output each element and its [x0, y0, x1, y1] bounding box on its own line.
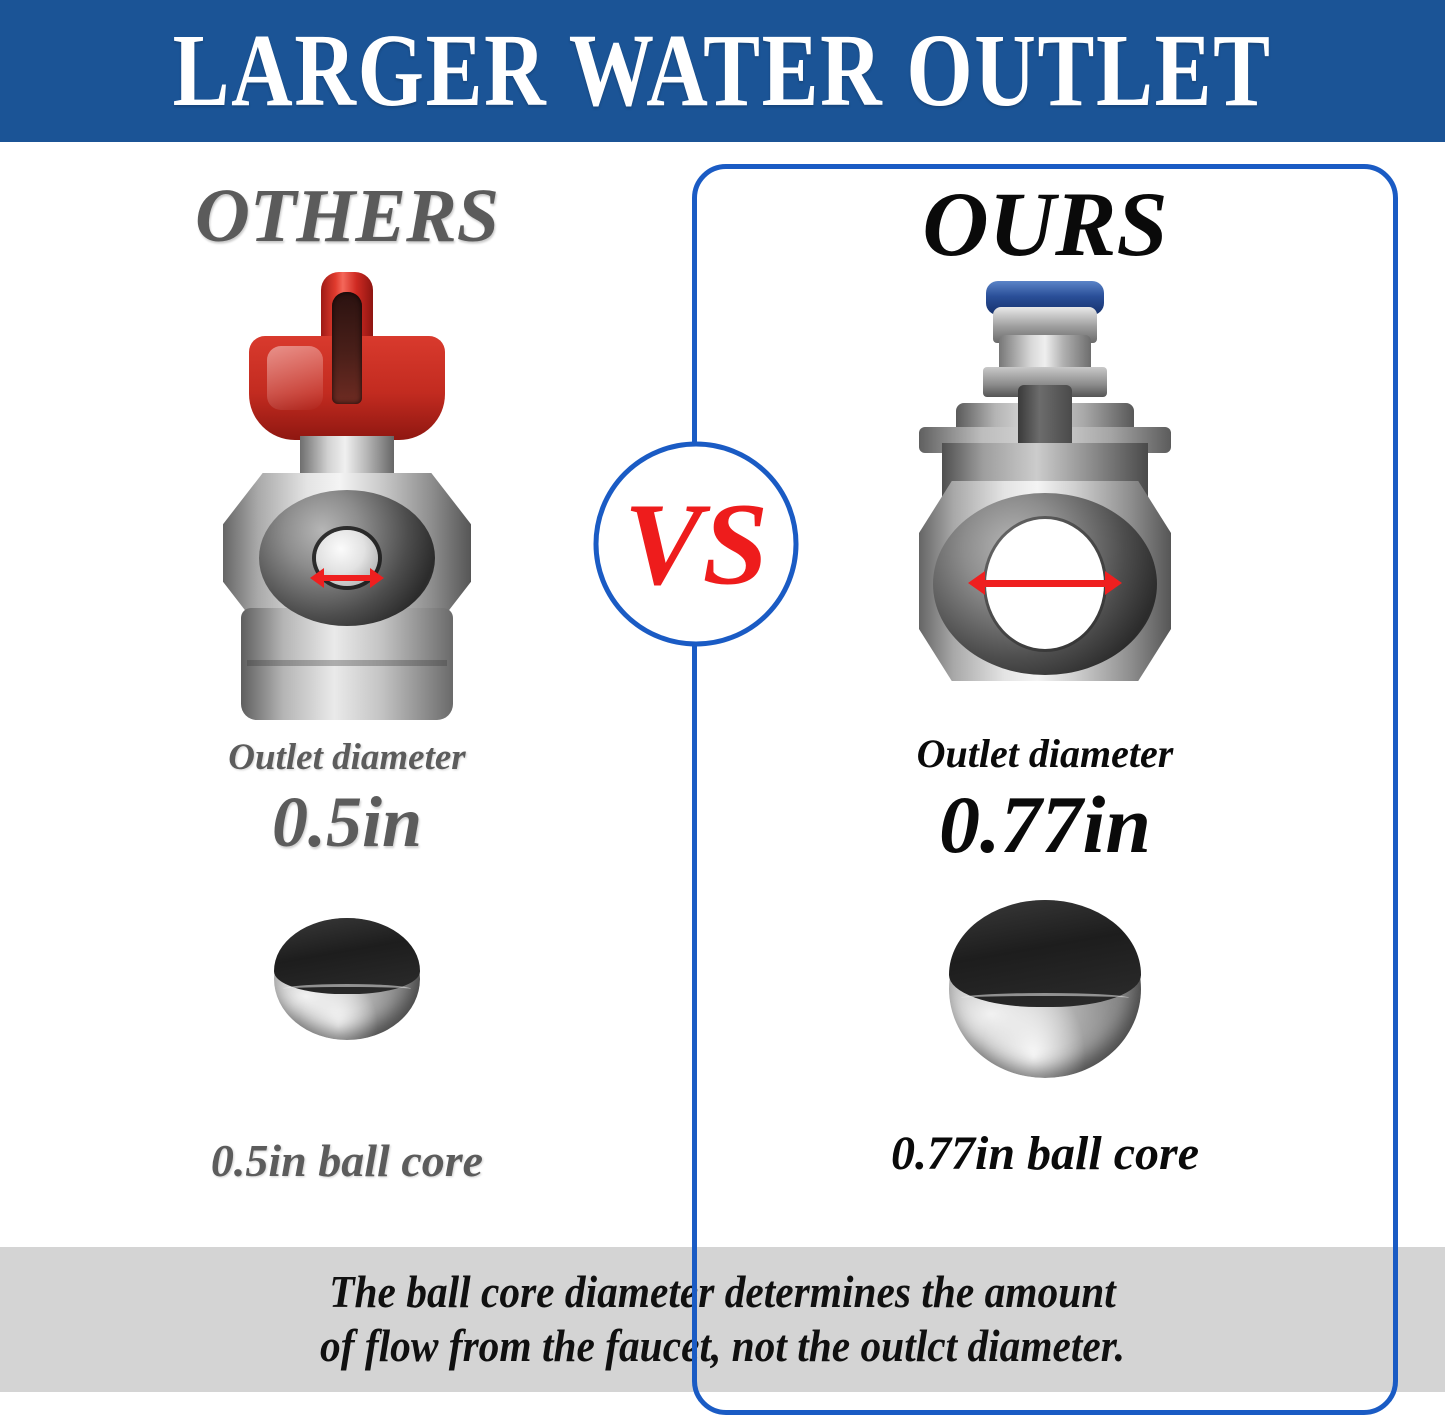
ours-measure-label: Outlet diameter [700, 732, 1390, 776]
vs-badge: VS [592, 440, 800, 648]
vs-badge-label: VS [624, 479, 768, 610]
footer-caption-line-2: of flow from the faucet, not the outlct … [320, 1320, 1125, 1373]
ball-core-bore-icon [274, 918, 420, 994]
others-measure-value: 0.5in [2, 785, 692, 861]
others-ball-core-image [2, 918, 692, 1040]
footer-caption: The ball core diameter determines the am… [320, 1266, 1125, 1372]
ball-core-icon [949, 900, 1141, 1078]
others-measure-label: Outlet diameter [2, 738, 692, 779]
ours-ball-core-caption: 0.77in ball core [700, 1130, 1390, 1178]
handle-slot-icon [332, 292, 362, 404]
ball-core-bore-icon [949, 900, 1141, 1007]
others-valve-image [2, 268, 692, 678]
ours-measurement: Outlet diameter 0.77in [700, 732, 1390, 868]
ours-measure-value: 0.77in [700, 782, 1390, 868]
others-column: OTHERS Outlet diameter 0.5in 0.5in ba [2, 150, 692, 1240]
ball-core-icon [274, 918, 420, 1040]
ball-core-rim-icon [283, 984, 412, 994]
ours-diameter-arrow-icon [968, 571, 1122, 595]
footer-caption-band: The ball core diameter determines the am… [0, 1247, 1445, 1392]
header-banner: LARGER WATER OUTLET [0, 0, 1445, 142]
ball-core-rim-icon [961, 993, 1130, 1003]
others-measurement: Outlet diameter 0.5in [2, 738, 692, 860]
page-title: LARGER WATER OUTLET [173, 19, 1272, 123]
others-ball-core-caption: 0.5in ball core [2, 1138, 692, 1184]
others-heading: OTHERS [2, 178, 692, 254]
ours-ball-core-image [700, 900, 1390, 1078]
ours-heading: OURS [700, 178, 1390, 270]
ours-valve-image [700, 275, 1390, 680]
ours-column: OURS Outlet diameter 0.77in [700, 150, 1390, 1240]
footer-caption-line-1: The ball core diameter determines the am… [320, 1266, 1125, 1319]
others-diameter-arrow-icon [310, 568, 384, 588]
